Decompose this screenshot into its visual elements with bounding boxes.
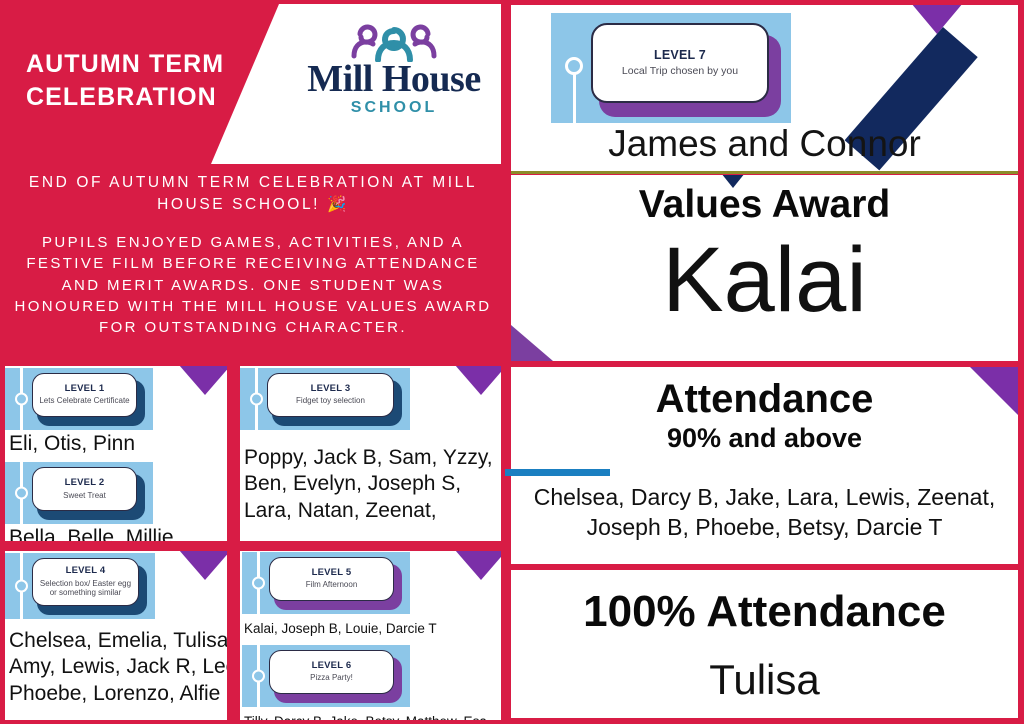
left-column: AUTUMN TERM CELEBRATION Mill House SCHOO…	[0, 0, 505, 724]
description-paragraph-1: END OF AUTUMN TERM CELEBRATION AT MILL H…	[8, 172, 498, 216]
level-card-4: LEVEL 4 Selection box/ Easter egg or som…	[5, 553, 155, 619]
level-card-face: LEVEL 4 Selection box/ Easter egg or som…	[32, 558, 139, 606]
panel-level-3: LEVEL 3 Fidget toy selection Poppy, Jack…	[240, 366, 501, 541]
purple-corner-icon	[962, 367, 1018, 423]
rail-dot-icon	[15, 580, 28, 593]
panel-level-4: LEVEL 4 Selection box/ Easter egg or som…	[5, 551, 227, 720]
level-title: LEVEL 7	[654, 49, 706, 63]
level-reward: Selection box/ Easter egg or something s…	[37, 579, 134, 598]
rail-dot-icon	[252, 577, 265, 590]
level-card-2: LEVEL 2 Sweet Treat	[5, 462, 153, 524]
description-block: END OF AUTUMN TERM CELEBRATION AT MILL H…	[8, 172, 498, 338]
right-column: LEVEL 7 Local Trip chosen by you James a…	[505, 0, 1024, 724]
level-card-1: LEVEL 1 Lets Celebrate Certificate	[5, 368, 153, 430]
full-attendance-names: Tulisa	[511, 656, 1018, 704]
attendance-names-line-2: Joseph B, Phoebe, Betsy, Darcie T	[511, 512, 1018, 542]
description-paragraph-2: PUPILS ENJOYED GAMES, ACTIVITIES, AND A …	[8, 232, 498, 338]
level-card-face: LEVEL 5 Film Afternoon	[269, 557, 394, 601]
level-card-face: LEVEL 7 Local Trip chosen by you	[591, 23, 769, 103]
panel-levels-5-6: LEVEL 5 Film Afternoon Kalai, Joseph B, …	[240, 551, 501, 720]
hero-banner: AUTUMN TERM CELEBRATION Mill House SCHOO…	[4, 4, 501, 164]
level-title: LEVEL 4	[66, 566, 106, 576]
level-1-names: Eli, Otis, Pinn	[5, 430, 227, 456]
navy-triangle-icon	[721, 175, 745, 188]
purple-triangle-icon	[911, 5, 963, 34]
olive-divider	[511, 171, 1018, 174]
three-people-logo-mark	[342, 20, 446, 62]
purple-corner-icon	[511, 325, 553, 361]
level-reward: Fidget toy selection	[296, 396, 365, 406]
panel-levels-1-2: LEVEL 1 Lets Celebrate Certificate Eli, …	[5, 366, 227, 541]
attendance-subheading: 90% and above	[511, 425, 1018, 452]
level-reward: Film Afternoon	[306, 580, 358, 590]
level-7-names: James and Connor	[511, 125, 1018, 162]
celebration-poster: AUTUMN TERM CELEBRATION Mill House SCHOO…	[0, 0, 1024, 724]
page-title: AUTUMN TERM CELEBRATION	[26, 48, 276, 114]
full-attendance-heading: 100% Attendance	[511, 590, 1018, 634]
panel-level-7: LEVEL 7 Local Trip chosen by you James a…	[511, 5, 1018, 171]
purple-triangle-icon	[179, 551, 227, 580]
level-card-face: LEVEL 3 Fidget toy selection	[267, 373, 394, 417]
level-reward: Pizza Party!	[310, 673, 353, 683]
purple-triangle-icon	[179, 366, 227, 395]
level-card-3: LEVEL 3 Fidget toy selection	[240, 368, 410, 430]
level-title: LEVEL 2	[65, 478, 105, 488]
level-3-names-line-3: Lara, Natan, Zeenat,	[240, 497, 501, 523]
values-award-winner: Kalai	[511, 232, 1018, 329]
values-award-heading: Values Award	[511, 185, 1018, 224]
level-4-names-line-1: Chelsea, Emelia, Tulisa,	[5, 627, 227, 653]
rail-dot-icon	[15, 393, 28, 406]
level-3-names-line-2: Ben, Evelyn, Joseph S,	[240, 470, 501, 496]
rail-dot-icon	[15, 487, 28, 500]
school-logo: Mill House SCHOOL	[299, 20, 489, 138]
level-card-face: LEVEL 6 Pizza Party!	[269, 650, 394, 694]
purple-triangle-icon	[455, 551, 501, 580]
level-card-face: LEVEL 1 Lets Celebrate Certificate	[32, 373, 137, 417]
rail-dot-icon	[252, 669, 265, 682]
level-4-names-line-3: Phoebe, Lorenzo, Alfie	[5, 680, 227, 706]
level-card-7: LEVEL 7 Local Trip chosen by you	[551, 13, 791, 123]
rail-dot-icon	[250, 393, 263, 406]
level-2-names: Bella, Belle, Millie	[5, 524, 227, 541]
level-reward: Sweet Treat	[63, 491, 106, 501]
attendance-names-line-1: Chelsea, Darcy B, Jake, Lara, Lewis, Zee…	[511, 482, 1018, 512]
level-card-5: LEVEL 5 Film Afternoon	[242, 552, 410, 614]
blue-divider	[505, 469, 610, 476]
level-card-6: LEVEL 6 Pizza Party!	[242, 645, 410, 707]
level-title: LEVEL 6	[312, 661, 352, 671]
level-title: LEVEL 3	[311, 384, 351, 394]
level-5-names: Kalai, Joseph B, Louie, Darcie T	[240, 619, 501, 637]
panel-attendance: Attendance 90% and above Chelsea, Darcy …	[511, 367, 1018, 564]
attendance-heading: Attendance	[511, 379, 1018, 419]
rail-dot-icon	[565, 57, 583, 75]
level-card-face: LEVEL 2 Sweet Treat	[32, 467, 137, 511]
level-title: LEVEL 5	[312, 568, 352, 578]
panel-full-attendance: 100% Attendance Tulisa	[511, 570, 1018, 718]
level-title: LEVEL 1	[65, 384, 105, 394]
logo-subtext: SCHOOL	[351, 99, 437, 117]
level-reward: Local Trip chosen by you	[622, 65, 738, 78]
level-4-names-line-2: Amy, Lewis, Jack R, Leo,	[5, 653, 227, 679]
level-6-names: Tilly, Darcy B, Jake, Betsy, Matthew, Es…	[240, 712, 501, 720]
purple-triangle-icon	[455, 366, 501, 395]
level-3-names-line-1: Poppy, Jack B, Sam, Yzzy,	[240, 444, 501, 470]
level-reward: Lets Celebrate Certificate	[39, 396, 129, 406]
panel-values-award: Values Award Kalai	[511, 175, 1018, 361]
logo-wordmark: Mill House	[307, 60, 480, 98]
